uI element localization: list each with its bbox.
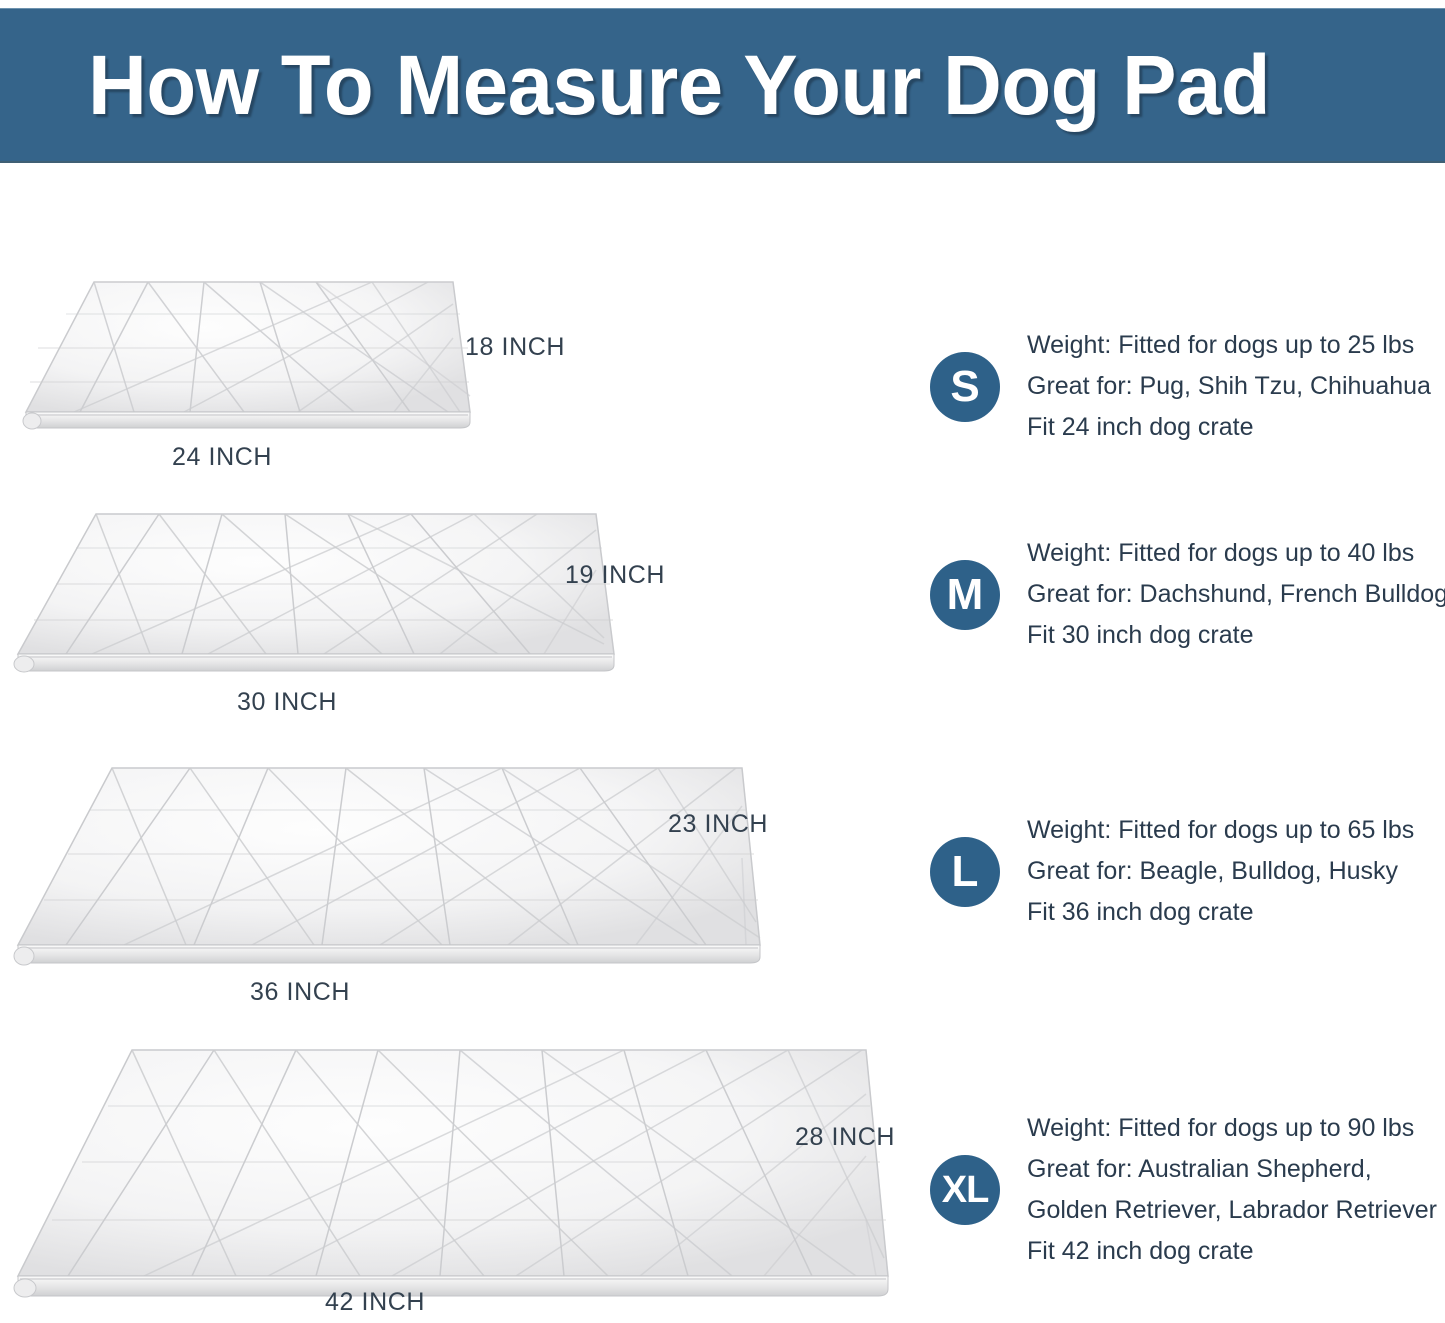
size-weight-m: Weight: Fitted for dogs up to 40 lbs xyxy=(1027,533,1445,574)
pad-image-l xyxy=(4,762,774,974)
header-banner: How To Measure Your Dog Pad xyxy=(0,8,1445,163)
size-crate-s: Fit 24 inch dog crate xyxy=(1027,407,1431,448)
size-row-l: L Weight: Fitted for dogs up to 65 lbs G… xyxy=(930,810,1414,933)
size-details-l: Weight: Fitted for dogs up to 65 lbs Gre… xyxy=(1027,810,1414,933)
size-row-xl: XL Weight: Fitted for dogs up to 90 lbs … xyxy=(930,1108,1437,1272)
size-crate-l: Fit 36 inch dog crate xyxy=(1027,892,1414,933)
quilted-pad-large-illustration xyxy=(4,762,774,974)
quilted-pad-xlarge-illustration xyxy=(4,1044,904,1306)
pad-width-label-l: 36 INCH xyxy=(250,978,350,1007)
size-details-xl: Weight: Fitted for dogs up to 90 lbs Gre… xyxy=(1027,1108,1437,1272)
size-badge-l: L xyxy=(930,837,1000,907)
size-details-s: Weight: Fitted for dogs up to 25 lbs Gre… xyxy=(1027,325,1431,448)
pad-width-label-m: 30 INCH xyxy=(237,688,337,717)
size-row-s: S Weight: Fitted for dogs up to 25 lbs G… xyxy=(930,325,1431,448)
quilted-pad-small-illustration xyxy=(8,276,478,436)
size-crate-xl: Fit 42 inch dog crate xyxy=(1027,1231,1437,1272)
size-badge-m: M xyxy=(930,560,1000,630)
size-breeds-m: Great for: Dachshund, French Bulldog xyxy=(1027,574,1445,615)
quilted-pad-medium-illustration xyxy=(4,508,624,680)
page-title: How To Measure Your Dog Pad xyxy=(88,43,1270,127)
pad-width-label-xl: 42 INCH xyxy=(325,1288,425,1317)
pad-image-m xyxy=(4,508,624,680)
size-weight-xl: Weight: Fitted for dogs up to 90 lbs xyxy=(1027,1108,1437,1149)
pad-depth-label-s: 18 INCH xyxy=(465,333,565,362)
size-breeds-xl: Great for: Australian Shepherd, xyxy=(1027,1149,1437,1190)
size-details-m: Weight: Fitted for dogs up to 40 lbs Gre… xyxy=(1027,533,1445,656)
size-breeds2-xl: Golden Retriever, Labrador Retriever xyxy=(1027,1190,1437,1231)
size-breeds-l: Great for: Beagle, Bulldog, Husky xyxy=(1027,851,1414,892)
pad-image-s xyxy=(8,276,478,436)
size-weight-s: Weight: Fitted for dogs up to 25 lbs xyxy=(1027,325,1431,366)
pad-depth-label-xl: 28 INCH xyxy=(795,1123,895,1152)
size-weight-l: Weight: Fitted for dogs up to 65 lbs xyxy=(1027,810,1414,851)
size-crate-m: Fit 30 inch dog crate xyxy=(1027,615,1445,656)
size-row-m: M Weight: Fitted for dogs up to 40 lbs G… xyxy=(930,533,1445,656)
pad-width-label-s: 24 INCH xyxy=(172,443,272,472)
pad-depth-label-m: 19 INCH xyxy=(565,561,665,590)
pad-image-xl xyxy=(4,1044,904,1306)
size-badge-xl: XL xyxy=(930,1155,1000,1225)
size-breeds-s: Great for: Pug, Shih Tzu, Chihuahua xyxy=(1027,366,1431,407)
pad-depth-label-l: 23 INCH xyxy=(668,810,768,839)
size-badge-s: S xyxy=(930,352,1000,422)
